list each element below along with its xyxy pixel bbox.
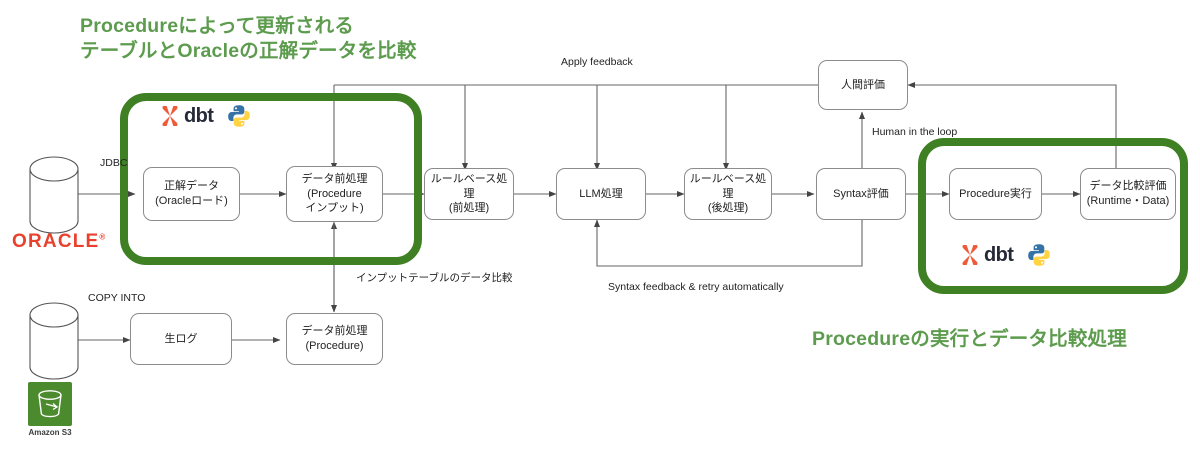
node-human-eval[interactable]: 人間評価 [818,60,908,110]
node-rule-based-pre[interactable]: ルールベース処理 (前処理) [424,168,514,220]
node-llm-processing[interactable]: LLM処理 [556,168,646,220]
connector-layer [0,0,1200,476]
heading-right-group: Procedureの実行とデータ比較処理 [812,327,1127,352]
node-correct-data[interactable]: 正解データ (Oracleロード) [143,167,240,221]
dbt-wordmark: dbt [984,244,1013,267]
group-highlight-layer [0,0,1200,476]
dbt-x-icon [960,245,980,265]
dbt-logo: dbt [160,105,213,128]
edge-label-syntax-feedback: Syntax feedback & retry automatically [608,281,784,293]
tool-logos-right: dbt [960,243,1051,267]
dbt-x-icon [160,106,180,126]
python-icon [1027,243,1051,267]
edge-label-copy-into: COPY INTO [88,292,145,304]
dbt-wordmark: dbt [184,105,213,128]
oracle-wordmark: ORACLE [12,231,99,252]
oracle-logo: ORACLE® [12,231,105,253]
node-procedure-exec[interactable]: Procedure実行 [949,168,1042,220]
edge-label-human-in-the-loop: Human in the loop [872,126,957,138]
edge-label-input-table-compare: インプットテーブルのデータ比較 [356,270,513,285]
python-icon [227,104,251,128]
node-raw-log[interactable]: 生ログ [130,313,232,365]
dbt-logo: dbt [960,244,1013,267]
oracle-trademark-symbol: ® [99,233,105,242]
node-data-compare-eval[interactable]: データ比較評価 (Runtime・Data) [1080,168,1176,220]
oracle-database-cylinder [28,155,80,235]
node-preprocess-input[interactable]: データ前処理 (Procedure インプット) [286,166,383,222]
amazon-s3-logo: Amazon S3 [22,382,84,437]
edge-label-apply-feedback: Apply feedback [561,56,633,68]
heading-left-group: Procedureによって更新される テーブルとOracleの正解データを比較 [80,14,417,64]
edge-label-jdbc: JDBC [100,157,127,169]
node-rule-based-post[interactable]: ルールベース処理 (後処理) [684,168,772,220]
s3-bucket-icon [28,382,72,426]
s3-database-cylinder [28,301,80,381]
s3-caption: Amazon S3 [22,428,78,437]
node-preprocess-procedure[interactable]: データ前処理 (Procedure) [286,313,383,365]
tool-logos-left: dbt [160,104,251,128]
diagram-canvas: Procedureによって更新される テーブルとOracleの正解データを比較 … [0,0,1200,476]
node-syntax-eval[interactable]: Syntax評価 [816,168,906,220]
